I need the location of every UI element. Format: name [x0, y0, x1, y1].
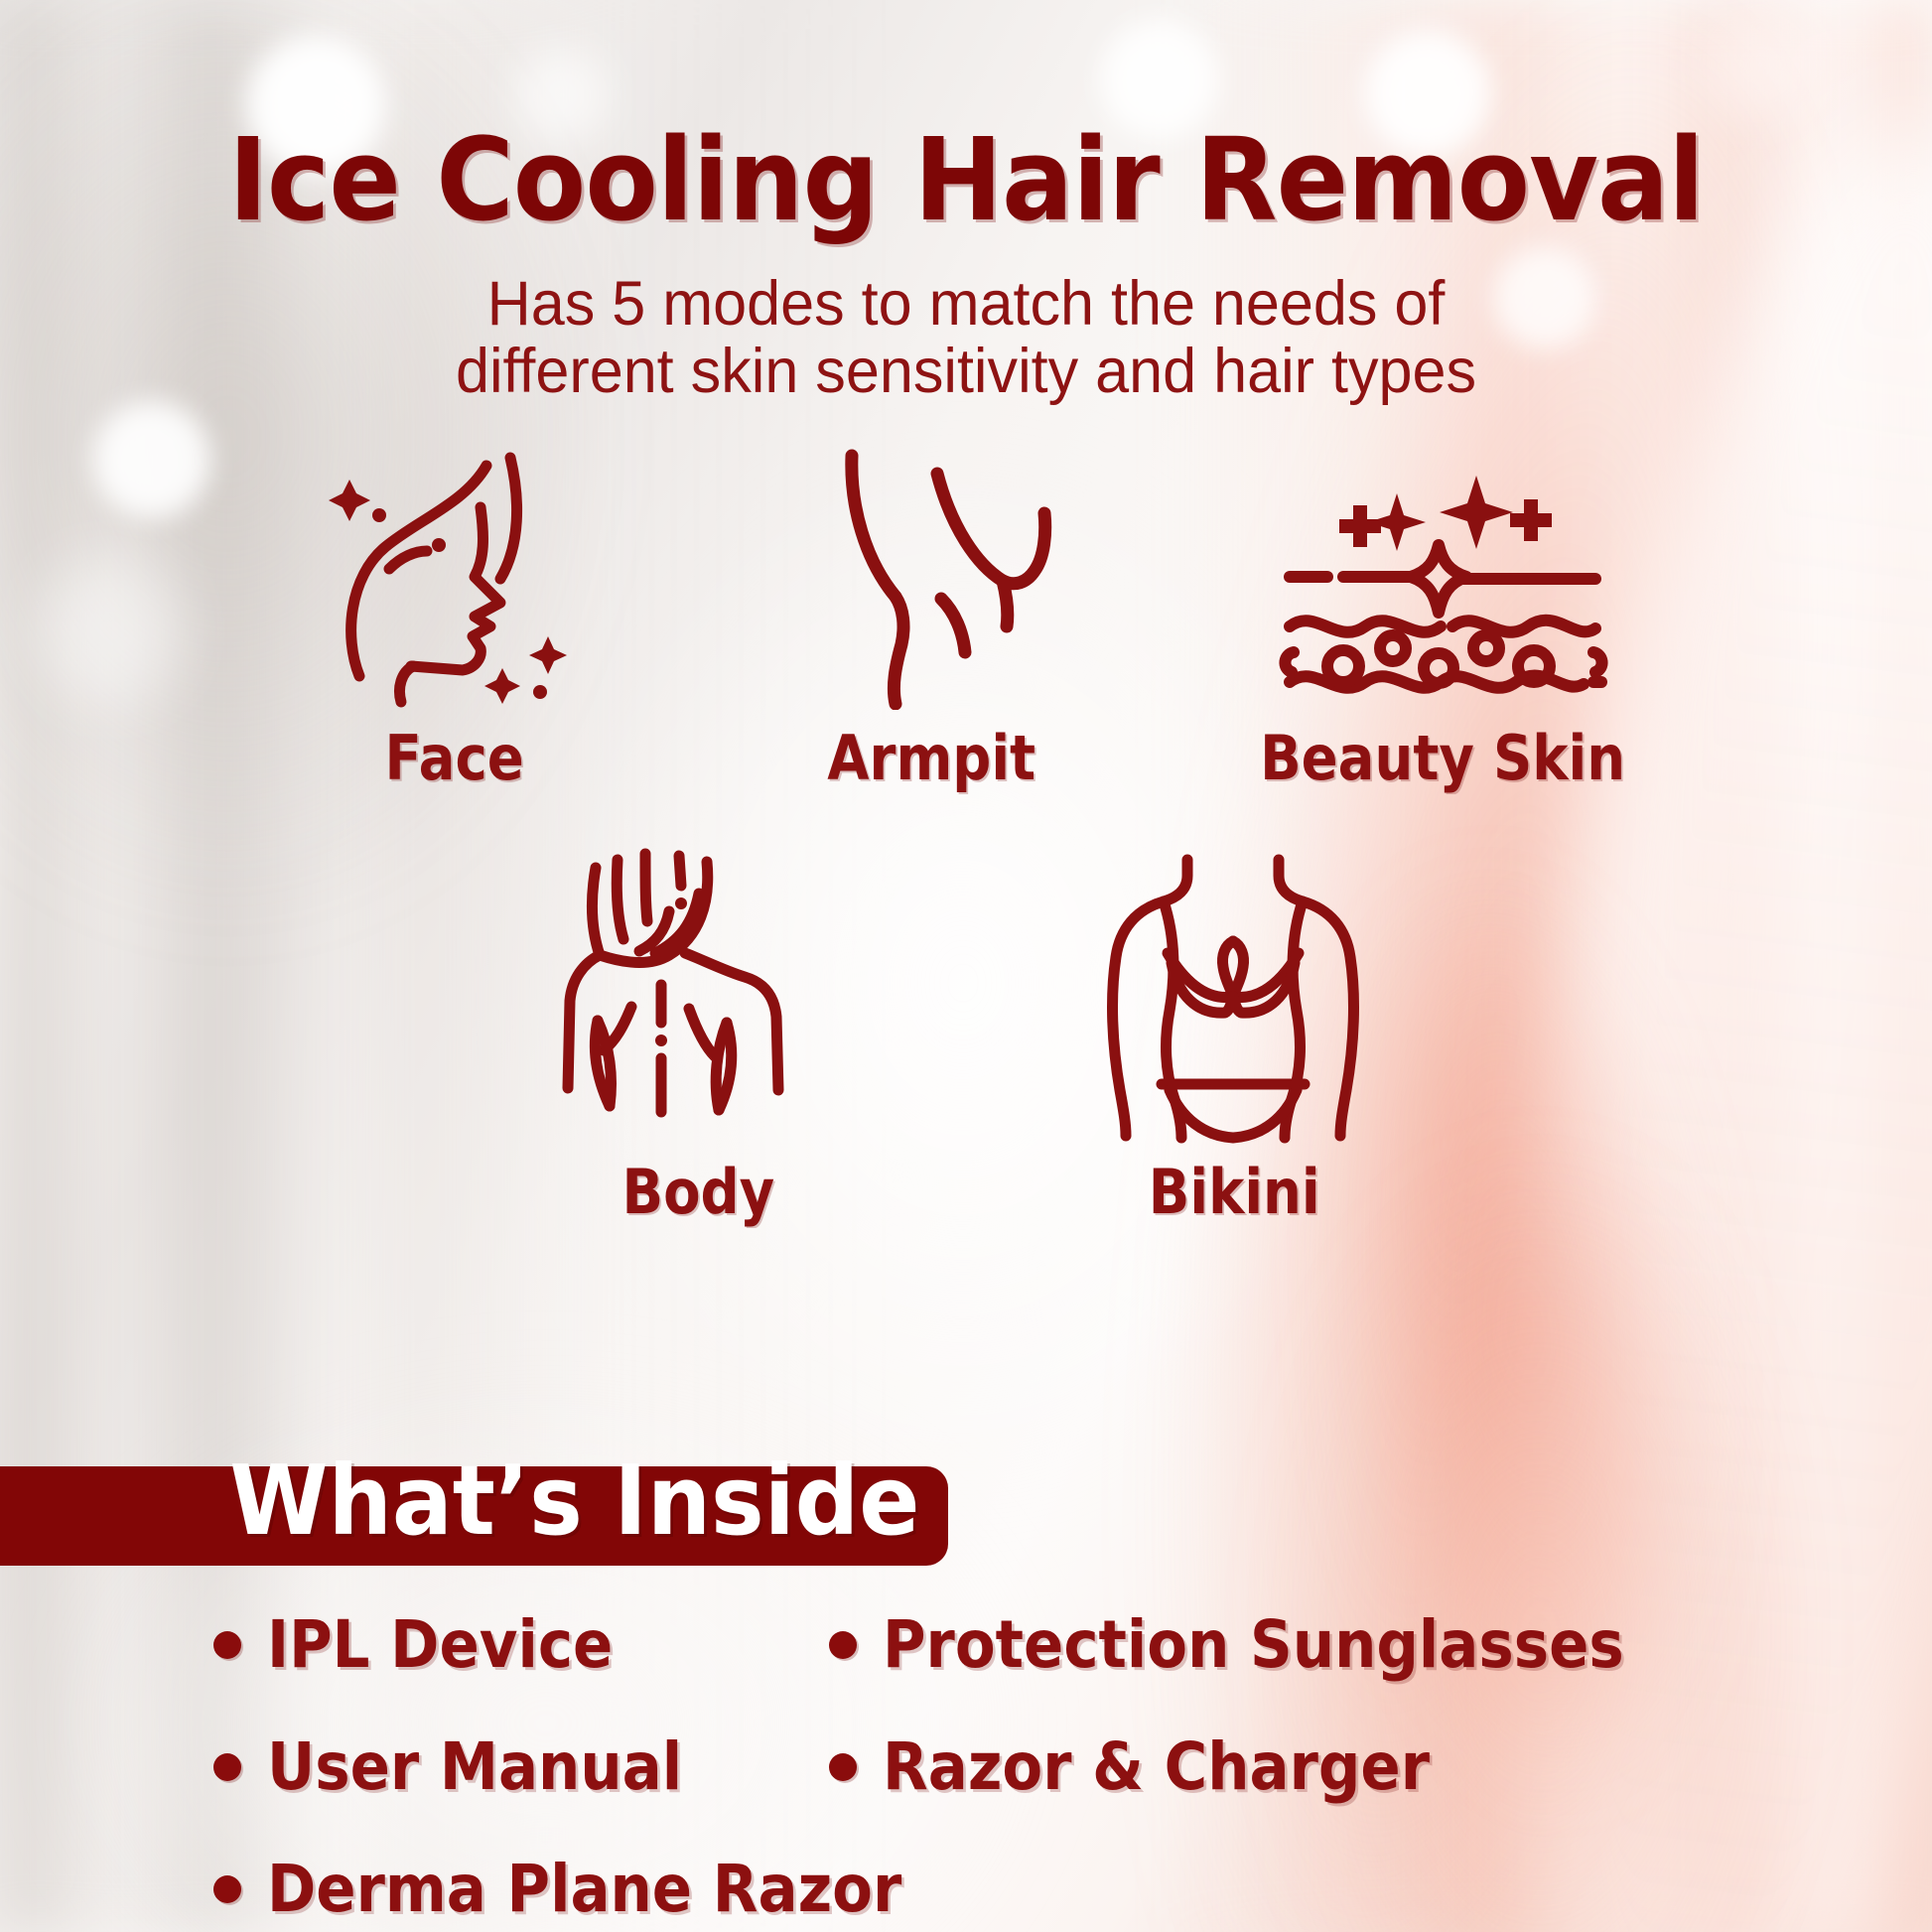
mode-item-body[interactable]: Body [534, 846, 862, 1228]
list-item: Derma Plane Razor [213, 1851, 829, 1927]
armpit-art [792, 442, 1070, 710]
list-item: User Manual [213, 1728, 829, 1805]
page-title: Ice Cooling Hair Removal [68, 114, 1864, 247]
mode-item-bikini[interactable]: Bikini [1070, 846, 1398, 1228]
bullet-dot-icon [829, 1753, 857, 1781]
bikini-torso-icon [1090, 846, 1378, 1144]
subtitle-line-2: different skin sensitivity and hair type… [289, 338, 1643, 405]
face-art [316, 442, 594, 710]
mode-item-face[interactable]: Face [291, 442, 619, 794]
mode-label-beauty-skin: Beauty Skin [1260, 722, 1625, 794]
product-infographic: Ice Cooling Hair Removal Has 5 modes to … [0, 0, 1932, 1932]
list-item-label: Protection Sunglasses [883, 1606, 1624, 1683]
mode-item-armpit[interactable]: Armpit [767, 442, 1095, 794]
mode-label-armpit: Armpit [827, 722, 1035, 794]
bullet-dot-icon [213, 1753, 241, 1781]
beauty-skin-art [1274, 462, 1611, 710]
list-item: Razor & Charger [829, 1728, 1822, 1805]
back-torso-icon [554, 846, 842, 1144]
whats-inside-right-column: Protection Sunglasses Razor & Charger [829, 1606, 1822, 1851]
skin-layers-sparkle-icon [1274, 462, 1611, 710]
list-item: IPL Device [213, 1606, 829, 1683]
mode-label-body: Body [621, 1156, 774, 1228]
bullet-dot-icon [213, 1631, 241, 1659]
whats-inside-title: What’s Inside [229, 1445, 919, 1557]
list-item-label: Derma Plane Razor [267, 1851, 901, 1927]
face-profile-sparkle-icon [316, 442, 594, 710]
whats-inside-left-column: IPL Device User Manual Derma Plane Razor [213, 1606, 829, 1932]
bullet-dot-icon [213, 1875, 241, 1903]
mode-label-face: Face [385, 722, 524, 794]
armpit-raised-arm-icon [792, 442, 1070, 710]
mode-row-bottom: Body [0, 846, 1932, 1228]
mode-row-top: Face [0, 442, 1932, 794]
subtitle-line-1: Has 5 modes to match the needs of [289, 270, 1643, 338]
list-item-label: User Manual [267, 1728, 682, 1805]
list-item: Protection Sunglasses [829, 1606, 1822, 1683]
page-subtitle: Has 5 modes to match the needs of differ… [289, 270, 1643, 405]
whats-inside-list: IPL Device User Manual Derma Plane Razor [213, 1606, 1901, 1932]
list-item-label: IPL Device [267, 1606, 613, 1683]
mode-item-beauty-skin[interactable]: Beauty Skin [1244, 462, 1641, 794]
whats-inside-columns: IPL Device User Manual Derma Plane Razor [213, 1606, 1901, 1932]
bikini-art [1090, 846, 1378, 1144]
body-art [554, 846, 842, 1144]
list-item-label: Razor & Charger [883, 1728, 1430, 1805]
bullet-dot-icon [829, 1631, 857, 1659]
mode-icon-grid: Face [0, 442, 1932, 1228]
mode-label-bikini: Bikini [1149, 1156, 1320, 1228]
